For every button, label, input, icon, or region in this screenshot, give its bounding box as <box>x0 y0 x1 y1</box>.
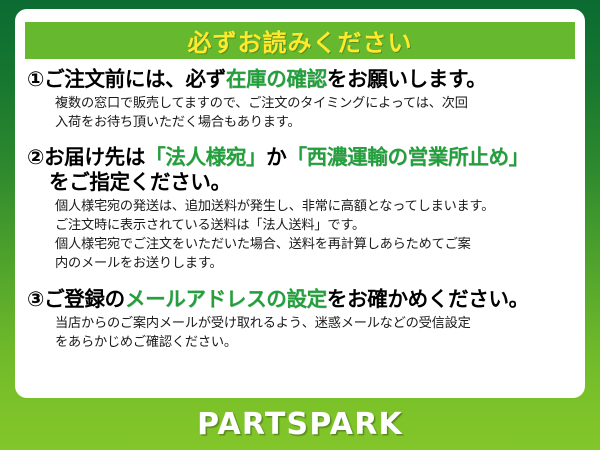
item-1-head-after: をお願いします。 <box>327 67 487 91</box>
item-3-head-after: をお確かめください。 <box>327 287 529 311</box>
item-2-highlight-2: 「西濃運輸の営業所止め」 <box>286 145 528 169</box>
notice-item-3: ③ご登録のメールアドレスの設定をお確かめください。 当店からのご案内メールが受け… <box>27 287 579 352</box>
item-marker-1: ① <box>27 67 44 91</box>
notice-item-1-subtext: 複数の窓口で販売してますので、ご注文のタイミングによっては、次回 入荷をお待ち頂… <box>55 95 579 132</box>
item-3-head-before: ご登録の <box>44 287 125 311</box>
item-2-head-before: お届け先は <box>44 145 145 169</box>
notice-item-1-heading: ①ご注文前には、必ず在庫の確認をお願いします。 <box>27 67 579 92</box>
footer: PARTSPARK <box>0 398 600 450</box>
brand-logo-text: PARTSPARK <box>197 407 403 442</box>
spacer-2 <box>27 275 579 287</box>
item-marker-3: ③ <box>27 287 44 311</box>
notice-item-3-heading: ③ご登録のメールアドレスの設定をお確かめください。 <box>27 287 579 312</box>
notice-content: ①ご注文前には、必ず在庫の確認をお願いします。 複数の窓口で販売してますので、ご… <box>27 67 579 355</box>
item-2-sub-line-1: 個人様宅宛の発送は、追加送料が発生し、非常に高額となってしまいます。 <box>55 198 579 217</box>
item-3-sub-line-1: 当店からのご案内メールが受け取れるよう、迷惑メールなどの受信設定 <box>55 315 579 334</box>
notice-item-3-subtext: 当店からのご案内メールが受け取れるよう、迷惑メールなどの受信設定 をあらかじめご… <box>55 315 579 352</box>
item-1-highlight: 在庫の確認 <box>226 67 327 91</box>
item-1-sub-line-1: 複数の窓口で販売してますので、ご注文のタイミングによっては、次回 <box>55 95 579 114</box>
item-2-highlight-1: 「法人様宛」 <box>145 145 266 169</box>
item-2-sub-line-4: 内のメールをお送りします。 <box>55 255 579 274</box>
notice-item-2-heading-line2: をご指定ください。 <box>27 170 579 195</box>
item-2-sub-line-2: ご注文時に表示されている送料は「法人送料」です。 <box>55 217 579 236</box>
notice-item-2-heading: ②お届け先は「法人様宛」か「西濃運輸の営業所止め」 <box>27 145 579 170</box>
item-3-highlight: メールアドレスの設定 <box>125 287 327 311</box>
banner: 必ずお読みください <box>25 22 575 59</box>
item-3-sub-line-2: をあらかじめご確認ください。 <box>55 334 579 353</box>
item-marker-2: ② <box>27 145 44 169</box>
item-2-head-middle: か <box>266 145 286 169</box>
item-2-sub-line-3: 個人様宅宛でご注文をいただいた場合、送料を再計算しあらためてご案 <box>55 236 579 255</box>
notice-item-1: ①ご注文前には、必ず在庫の確認をお願いします。 複数の窓口で販売してますので、ご… <box>27 67 579 132</box>
banner-title: 必ずお読みください <box>188 23 413 58</box>
notice-item-2-subtext: 個人様宅宛の発送は、追加送料が発生し、非常に高額となってしまいます。 ご注文時に… <box>55 198 579 273</box>
notice-item-2: ②お届け先は「法人様宛」か「西濃運輸の営業所止め」 をご指定ください。 個人様宅… <box>27 145 579 273</box>
notice-card: 必ずお読みください ①ご注文前には、必ず在庫の確認をお願いします。 複数の窓口で… <box>15 9 585 398</box>
item-1-head-before: ご注文前には、必ず <box>44 67 226 91</box>
notice-poster: 必ずお読みください ①ご注文前には、必ず在庫の確認をお願いします。 複数の窓口で… <box>0 0 600 450</box>
spacer-1 <box>27 134 579 145</box>
item-1-sub-line-2: 入荷をお待ち頂いただく場合もあります。 <box>55 114 579 133</box>
